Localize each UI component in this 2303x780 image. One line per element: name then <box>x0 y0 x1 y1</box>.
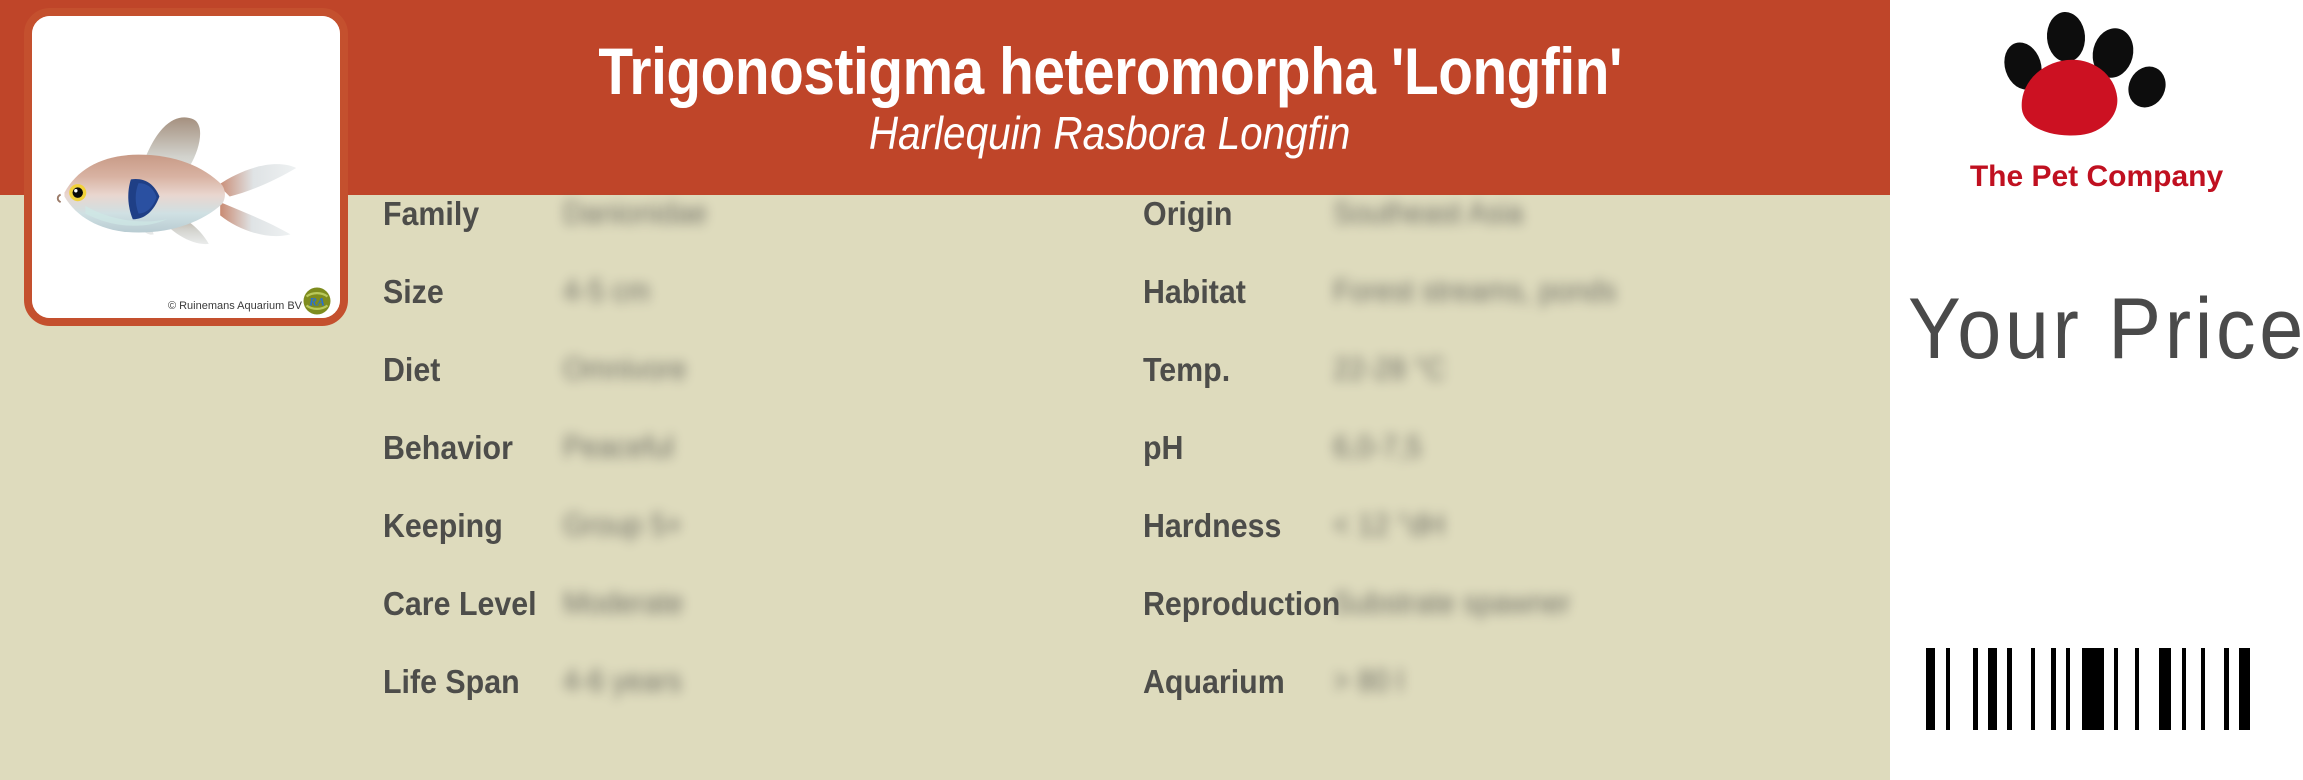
barcode-bar <box>1926 648 1935 730</box>
spec-label: Hardness <box>1143 507 1281 545</box>
paw-toe-icon <box>2045 11 2086 64</box>
paw-toe-icon <box>2121 60 2172 114</box>
spec-value: Danionidae <box>563 195 707 231</box>
barcode-bar <box>1938 648 1943 730</box>
barcode-bar <box>2182 648 2186 730</box>
spec-row: OriginSoutheast Asia <box>1143 195 1843 262</box>
spec-value: 4-6 years <box>563 663 682 699</box>
barcode-bar <box>2073 648 2079 730</box>
barcode-bar <box>1953 648 1970 730</box>
spec-value: > 80 l <box>1333 663 1404 699</box>
spec-row: Temp.22-28 °C <box>1143 351 1843 418</box>
spec-row: ReproductionSubstrate spawner <box>1143 585 1843 652</box>
spec-label: Behavior <box>383 429 513 467</box>
brand-name: The Pet Company <box>1970 160 2223 194</box>
spec-row: Care LevelModerate <box>383 585 1083 652</box>
barcode-bar <box>2000 648 2004 730</box>
common-name: Harlequin Rasbora Longfin <box>869 109 1351 157</box>
barcode-bar <box>2082 648 2104 730</box>
spec-value: Group 5+ <box>563 507 683 543</box>
barcode-bar <box>2239 648 2250 730</box>
spec-row: FamilyDanionidae <box>383 195 1083 262</box>
barcode-bar <box>2208 648 2221 730</box>
spec-value: Forest streams, ponds <box>1333 273 1617 309</box>
spec-value: Southeast Asia <box>1333 195 1523 231</box>
spec-column-left: FamilyDanionidaeSize4-5 cmDietOmnivoreBe… <box>383 195 1083 780</box>
spec-value: 22-28 °C <box>1333 351 1446 387</box>
spec-row: Life Span4-6 years <box>383 663 1083 730</box>
spec-value: 6,0-7,5 <box>1333 429 1422 465</box>
barcode-bar <box>2015 648 2028 730</box>
spec-label: Care Level <box>383 585 537 623</box>
spec-label: Life Span <box>383 663 520 701</box>
barcode-bar <box>2135 648 2139 730</box>
spec-label: Temp. <box>1143 351 1230 389</box>
barcode-bar <box>2232 648 2236 730</box>
barcode-bar <box>2114 648 2118 730</box>
spec-label: pH <box>1143 429 1183 467</box>
barcode-bar <box>2174 648 2179 730</box>
barcode-bar <box>2038 648 2048 730</box>
barcode-bar <box>2051 648 2056 730</box>
spec-value: 4-5 cm <box>563 273 650 309</box>
barcode-bar <box>2142 648 2156 730</box>
barcode <box>1926 648 2266 730</box>
barcode-bar <box>1973 648 1978 730</box>
barcode-bar <box>2189 648 2198 730</box>
spec-label: Aquarium <box>1143 663 1285 701</box>
barcode-bar <box>2201 648 2205 730</box>
barcode-bar <box>2066 648 2070 730</box>
product-label-card: Trigonostigma heteromorpha 'Longfin' Har… <box>0 0 2303 780</box>
barcode-bar <box>1988 648 1997 730</box>
spec-column-right: OriginSoutheast AsiaHabitatForest stream… <box>1143 195 1843 780</box>
barcode-bar <box>1981 648 1985 730</box>
barcode-bar <box>2031 648 2035 730</box>
barcode-bar <box>2121 648 2132 730</box>
spec-row: KeepingGroup 5+ <box>383 507 1083 574</box>
spec-row: Aquarium> 80 l <box>1143 663 1843 730</box>
spec-row: HabitatForest streams, ponds <box>1143 273 1843 340</box>
spec-value: Moderate <box>563 585 683 621</box>
spec-label: Diet <box>383 351 440 389</box>
barcode-bar <box>2107 648 2111 730</box>
spec-grid: FamilyDanionidaeSize4-5 cmDietOmnivoreBe… <box>0 195 1890 780</box>
price-panel: The Pet Company Your Price <box>1890 0 2303 780</box>
spec-label: Family <box>383 195 479 233</box>
info-card: Trigonostigma heteromorpha 'Longfin' Har… <box>0 0 1890 780</box>
spec-value: Peaceful <box>563 429 674 465</box>
barcode-bar <box>2224 648 2229 730</box>
spec-row: Hardness< 12 °dH <box>1143 507 1843 574</box>
spec-row: BehaviorPeaceful <box>383 429 1083 496</box>
scientific-name: Trigonostigma heteromorpha 'Longfin' <box>598 38 1622 105</box>
title-block: Trigonostigma heteromorpha 'Longfin' Har… <box>330 0 1890 195</box>
spec-row: Size4-5 cm <box>383 273 1083 340</box>
spec-label: Size <box>383 273 444 311</box>
paw-print-icon <box>1997 8 2197 158</box>
spec-row: pH6,0-7,5 <box>1143 429 1843 496</box>
barcode-bar <box>2007 648 2012 730</box>
spec-row: DietOmnivore <box>383 351 1083 418</box>
spec-value: Substrate spawner <box>1333 585 1571 621</box>
spec-label: Origin <box>1143 195 1232 233</box>
your-price-label: Your Price <box>1908 280 2303 379</box>
spec-label: Reproduction <box>1143 585 1340 623</box>
barcode-bar <box>1946 648 1950 730</box>
spec-value: < 12 °dH <box>1333 507 1445 543</box>
barcode-bar <box>2059 648 2063 730</box>
brand-logo: The Pet Company <box>1890 8 2303 208</box>
spec-label: Keeping <box>383 507 503 545</box>
spec-label: Habitat <box>1143 273 1246 311</box>
spec-value: Omnivore <box>563 351 687 387</box>
barcode-bar <box>2159 648 2171 730</box>
